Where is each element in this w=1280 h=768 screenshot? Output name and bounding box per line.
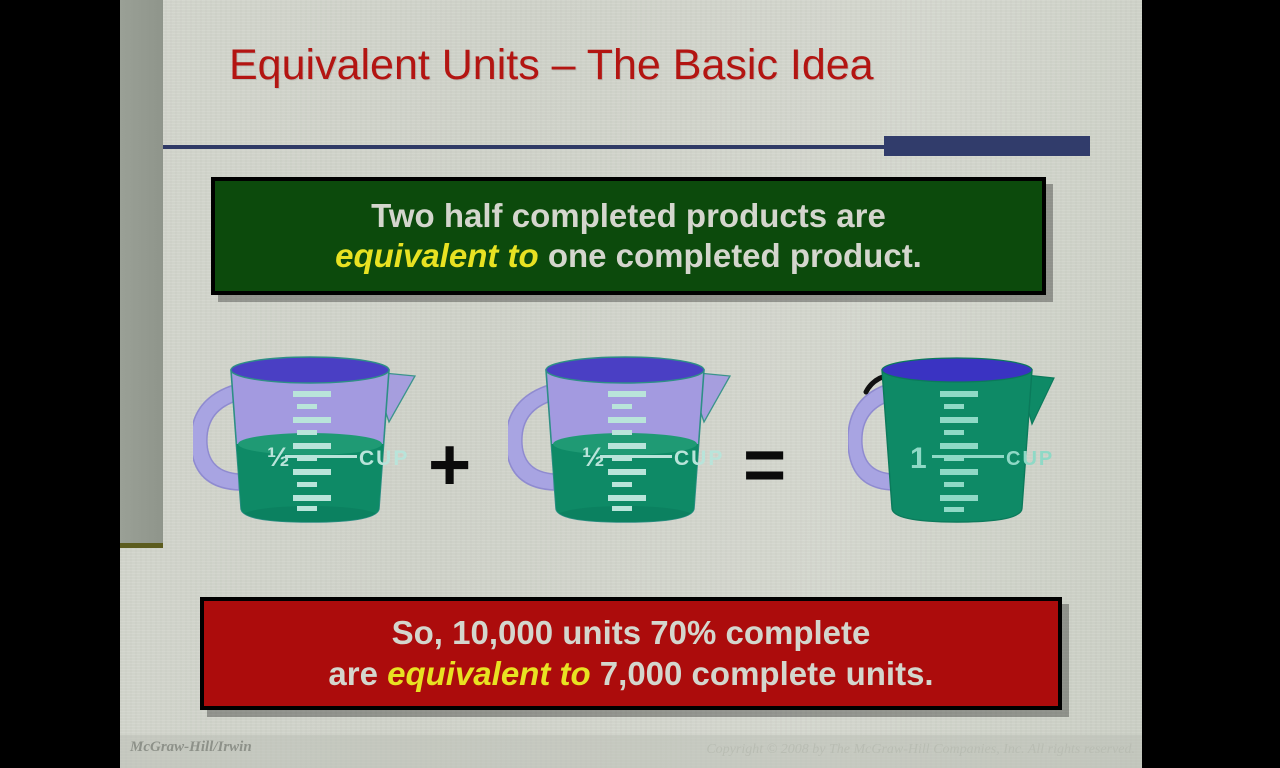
- red-callout-emphasis: equivalent to: [387, 655, 591, 692]
- red-callout-line-2-head: are: [328, 655, 387, 692]
- cup-rim: [231, 357, 389, 383]
- cup-measure-label: ½: [582, 442, 605, 472]
- cup-unit-label: CUP: [674, 447, 724, 470]
- plus-operator: +: [428, 428, 471, 502]
- cup-handle-icon: [193, 384, 239, 490]
- red-callout-line-2-tail: 7,000 complete units.: [591, 655, 934, 692]
- cup-measure-label: ½: [267, 442, 290, 472]
- green-callout-line-2-tail: one completed product.: [539, 237, 922, 274]
- cup-handle-icon: [508, 384, 554, 490]
- measuring-cup-half-2: ½ CUP: [508, 340, 743, 545]
- green-callout-line-1: Two half completed products are: [215, 196, 1042, 236]
- footer-imprint: McGraw-Hill/Irwin: [130, 739, 252, 756]
- left-decoration-bar: [120, 0, 163, 545]
- red-callout-box: So, 10,000 units 70% complete are equiva…: [200, 597, 1062, 710]
- cup-graphic: 1 CUP: [848, 340, 1063, 540]
- cup-graphic: ½ CUP: [508, 340, 743, 540]
- slide-title: Equivalent Units – The Basic Idea: [163, 42, 1063, 89]
- slide-root: Equivalent Units – The Basic Idea Two ha…: [0, 0, 1280, 768]
- measuring-cup-half-1: ½ CUP: [193, 340, 428, 545]
- equals-operator: =: [743, 428, 786, 502]
- left-decoration-underline: [120, 543, 163, 548]
- cup-measure-label: 1: [910, 442, 927, 475]
- green-callout-line-2: equivalent to one completed product.: [215, 236, 1042, 276]
- cup-unit-label: CUP: [1006, 448, 1054, 470]
- cup-illustration-row: ½ CUP +: [163, 340, 1083, 555]
- footer-copyright: Copyright © 2008 by The McGraw-Hill Comp…: [706, 742, 1135, 758]
- cup-graphic: ½ CUP: [193, 340, 428, 540]
- cup-rim: [882, 358, 1032, 382]
- red-callout-line-1: So, 10,000 units 70% complete: [204, 613, 1058, 653]
- title-divider-line: [163, 145, 885, 149]
- measuring-cup-full: 1 CUP: [848, 340, 1063, 545]
- green-callout-box: Two half completed products are equivale…: [211, 177, 1046, 295]
- green-callout-emphasis: equivalent to: [335, 237, 539, 274]
- cup-unit-label: CUP: [359, 447, 409, 470]
- title-divider-block: [884, 136, 1090, 156]
- red-callout-line-2: are equivalent to 7,000 complete units.: [204, 654, 1058, 694]
- cup-rim: [546, 357, 704, 383]
